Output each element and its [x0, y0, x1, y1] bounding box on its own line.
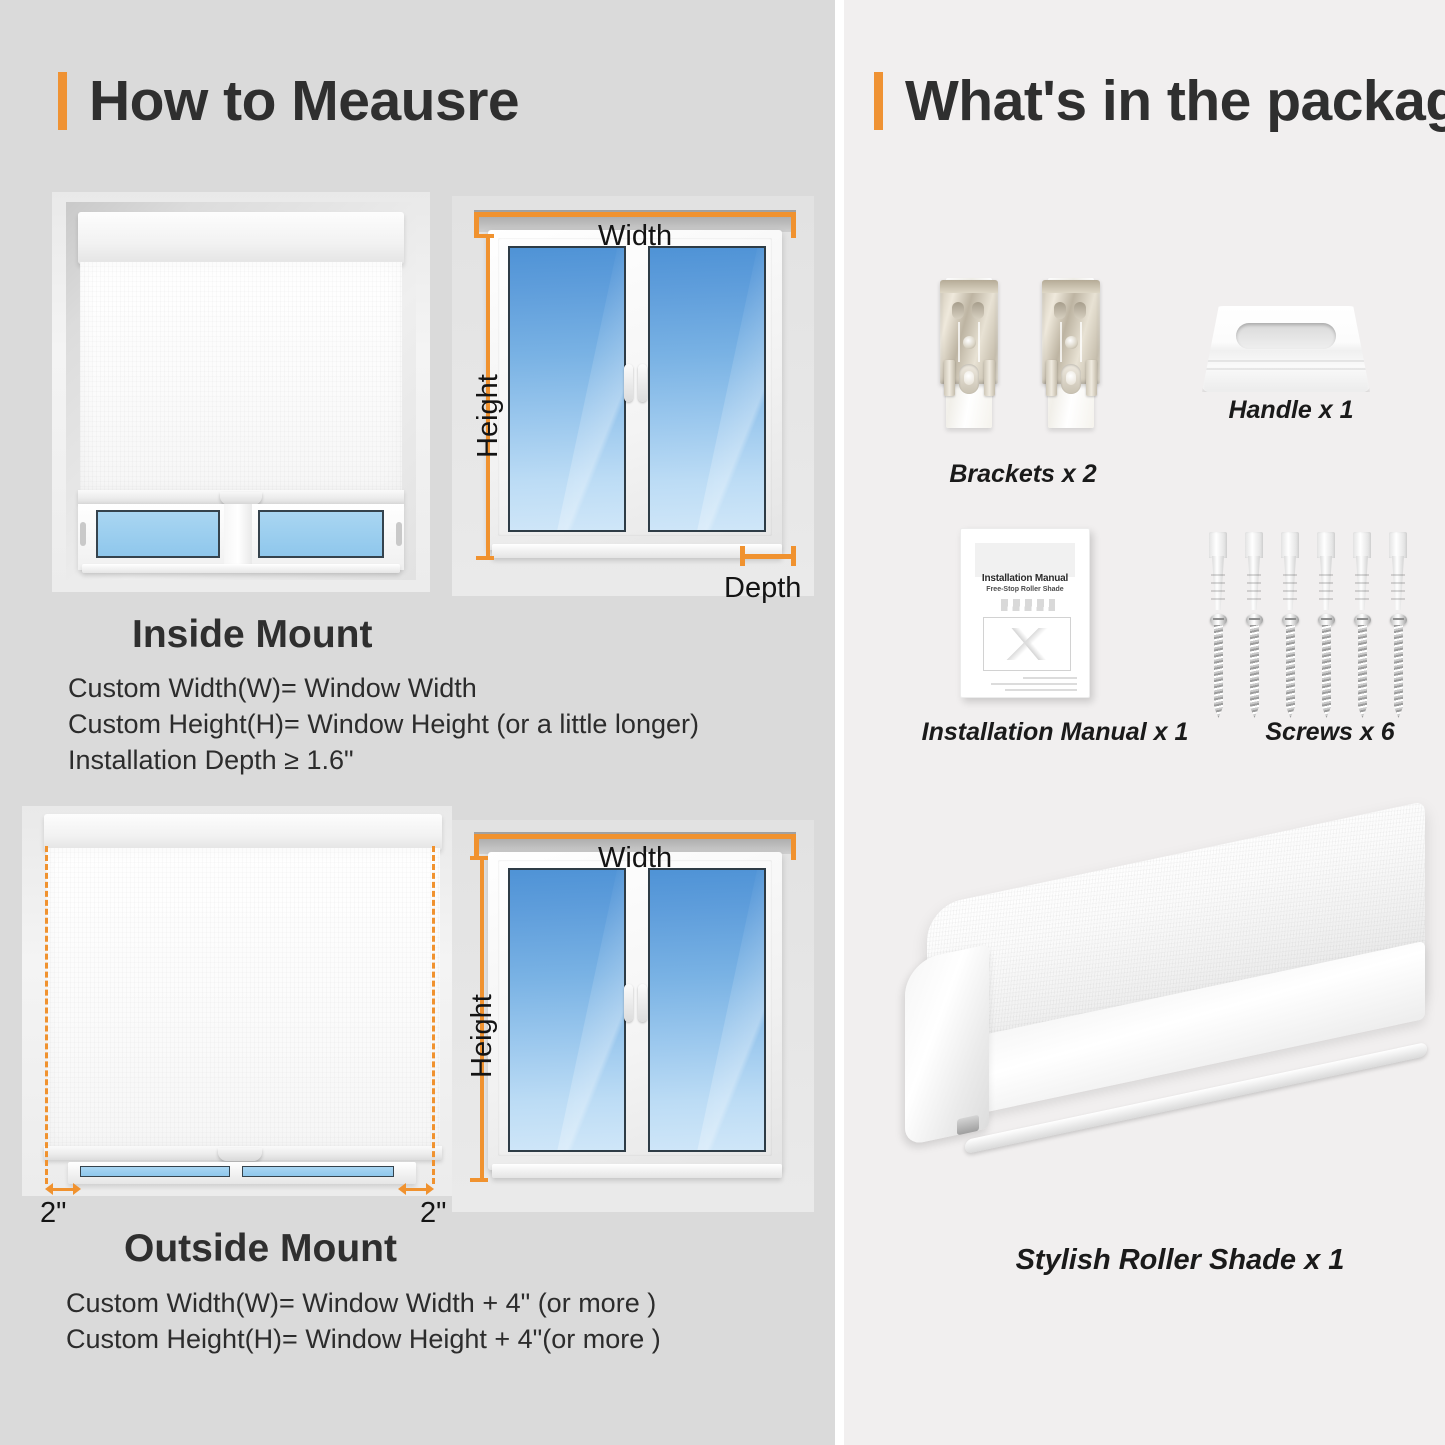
glass-strip-left: [80, 1166, 230, 1177]
wall-anchor-6: [1388, 532, 1408, 610]
overhang-right-label: 2": [420, 1197, 446, 1230]
installation-manual-label: Installation Manual x 1: [910, 718, 1200, 747]
depth-label: Depth: [724, 572, 801, 605]
package-heading-text: What's in the package: [905, 73, 1445, 130]
outside-mount-title: Outside Mount: [124, 1227, 397, 1271]
screw-1: [1210, 614, 1227, 718]
guide-height-top-cap: [470, 856, 488, 860]
package-heading: What's in the package: [874, 72, 1445, 130]
height-label: Height: [466, 994, 499, 1078]
glass-strip-right: [242, 1166, 394, 1177]
handle-label: Handle x 1: [1221, 396, 1361, 425]
bracket-part-1: [938, 278, 1000, 428]
roller-shade-end-pin: [957, 1115, 979, 1136]
shade-cassette: [78, 212, 404, 264]
screw-6: [1390, 614, 1407, 718]
infographic-page: How to Meausre What's in the package: [0, 0, 1445, 1445]
overhang-arrow-left: [45, 1182, 81, 1196]
guide-height-top-cap: [476, 234, 494, 238]
inside-mount-measure-diagram: Width Height Depth: [452, 196, 814, 596]
inside-mount-title: Inside Mount: [132, 613, 372, 657]
window-handle-left-icon: [624, 364, 633, 402]
inside-mount-line-2: Custom Height(H)= Window Height (or a li…: [68, 706, 699, 742]
accent-bar-icon: [874, 72, 883, 130]
window-handle-left-icon: [624, 984, 633, 1022]
shade-pull-handle: [218, 1148, 262, 1161]
glass-pane-right: [648, 246, 766, 532]
guide-top-right-cap: [791, 212, 796, 238]
screws-label: Screws x 6: [1230, 718, 1430, 747]
window-sill: [82, 564, 400, 573]
overhang-arrow-right: [398, 1182, 434, 1196]
wall-anchor-3: [1280, 532, 1300, 610]
guide-height-bottom-cap: [470, 1178, 488, 1182]
shade-fabric: [80, 262, 402, 492]
screw-5: [1354, 614, 1371, 718]
manual-cover-title: Installation Manual: [961, 573, 1089, 584]
guide-depth-line: [740, 554, 796, 559]
bracket-part-2: [1040, 278, 1102, 428]
guide-top-line: [474, 834, 796, 839]
inside-mount-line-3: Installation Depth ≥ 1.6": [68, 742, 354, 778]
brackets-label: Brackets x 2: [948, 460, 1098, 489]
guide-height-bottom-cap: [476, 556, 494, 560]
wall-anchor-4: [1316, 532, 1336, 610]
roller-shade-part: [905, 895, 1425, 1205]
glass-pane-left: [508, 868, 626, 1152]
hinge-right-icon: [396, 522, 402, 546]
handle-part: [1202, 306, 1370, 392]
wall-anchor-2: [1244, 532, 1264, 610]
window-mullion: [224, 504, 252, 570]
wall-anchor-5: [1352, 532, 1372, 610]
overhang-guide-left: [45, 846, 48, 1184]
width-label: Width: [598, 842, 672, 875]
accent-bar-icon: [58, 72, 67, 130]
window-handle-right-icon: [638, 364, 647, 402]
outside-mount-line-1: Custom Width(W)= Window Width + 4" (or m…: [66, 1285, 656, 1321]
window-sill: [492, 544, 782, 558]
outside-mount-line-2: Custom Height(H)= Window Height + 4"(or …: [66, 1321, 661, 1357]
installation-manual-part: Installation Manual Free-Stop Roller Sha…: [960, 528, 1090, 698]
how-to-measure-heading: How to Meausre: [58, 72, 519, 130]
inside-mount-illustration: [52, 192, 430, 592]
wall-anchor-1: [1208, 532, 1228, 610]
roller-shade-label: Stylish Roller Shade x 1: [1005, 1244, 1355, 1277]
handle-slot: [1236, 323, 1336, 349]
glass-pane-right: [258, 510, 384, 558]
inside-mount-line-1: Custom Width(W)= Window Width: [68, 670, 477, 706]
guide-depth-right-cap: [791, 546, 796, 566]
guide-top-right-cap: [791, 834, 796, 860]
window-sill: [492, 1164, 782, 1178]
guide-depth-left-cap: [740, 546, 745, 566]
glass-pane-right: [648, 868, 766, 1152]
outside-mount-measure-diagram: Width Height: [452, 820, 814, 1212]
manual-cover-subtitle: Free-Stop Roller Shade: [961, 586, 1089, 593]
screw-4: [1318, 614, 1335, 718]
window-handle-right-icon: [638, 984, 647, 1022]
width-label: Width: [598, 220, 672, 253]
overhang-guide-right: [432, 846, 435, 1184]
glass-pane-left: [96, 510, 220, 558]
shade-cassette: [44, 814, 442, 850]
how-to-measure-heading-text: How to Meausre: [89, 73, 519, 130]
shade-fabric: [46, 848, 440, 1148]
guide-top-line: [474, 212, 796, 217]
screw-2: [1246, 614, 1263, 718]
panel-divider: [835, 0, 844, 1445]
height-label: Height: [472, 374, 505, 458]
screw-3: [1282, 614, 1299, 718]
glass-pane-left: [508, 246, 626, 532]
hinge-left-icon: [80, 522, 86, 546]
overhang-left-label: 2": [40, 1197, 66, 1230]
outside-mount-illustration: [22, 806, 452, 1196]
